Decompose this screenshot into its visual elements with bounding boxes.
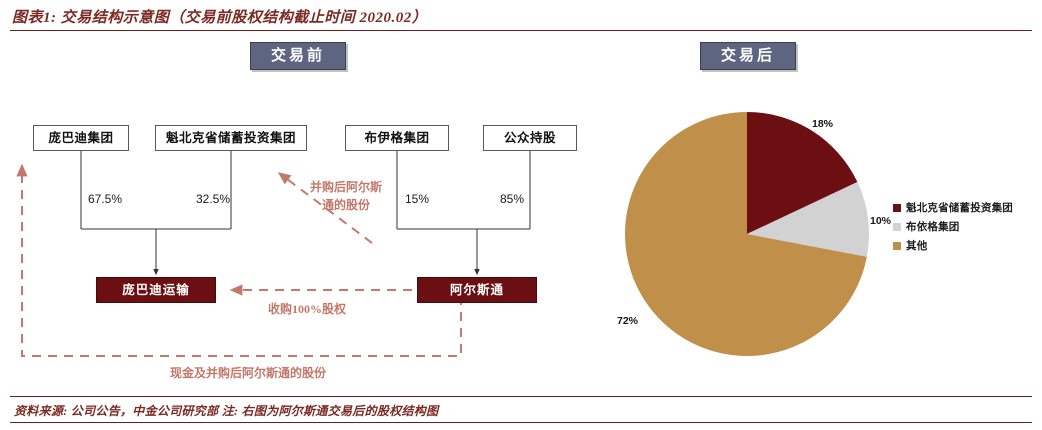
legend-item-quebec: 魁北克省储蓄投资集团: [893, 198, 1013, 217]
footer-divider-top: [10, 396, 1032, 397]
stake-label-bombardier-group: 67.5%: [88, 192, 122, 206]
legend-label-quebec: 魁北克省储蓄投资集团: [906, 200, 1013, 215]
legend-swatch-quebec: [893, 204, 901, 212]
entity-box-quebec-group: 魁北克省储蓄投资集团: [155, 125, 307, 151]
pie-chart-legend: 魁北克省储蓄投资集团 布依格集团 其他: [893, 198, 1013, 255]
annotation-merger-shares-line1: 并购后阿尔斯: [310, 178, 382, 195]
legend-label-others: 其他: [906, 238, 927, 253]
entity-box-alstom: 阿尔斯通: [417, 277, 537, 303]
connector-bombardier-left: [81, 151, 231, 272]
stake-label-public-holding: 85%: [500, 192, 524, 206]
figure-root: 图表1: 交易结构示意图（交易前股权结构截止时间 2020.02） 交易前 交易…: [0, 0, 1042, 430]
entity-box-public-holding: 公众持股: [483, 125, 577, 151]
entity-box-bombardier-group: 庞巴迪集团: [33, 125, 129, 151]
stake-label-quebec-group: 32.5%: [196, 192, 230, 206]
annotation-cash-and-shares: 现金及并购后阿尔斯通的股份: [170, 364, 326, 381]
pie-chart-svg: [622, 110, 872, 358]
connector-alstom-right: [397, 151, 530, 272]
annotation-acquire-100-percent: 收购100%股权: [268, 300, 346, 317]
pie-chart: [622, 110, 872, 358]
legend-swatch-bouygues: [893, 223, 901, 231]
legend-item-others: 其他: [893, 236, 1013, 255]
entity-box-bombardier-transport: 庞巴迪运输: [96, 277, 216, 303]
footer-divider-bottom: [10, 422, 1032, 423]
source-note: 资料来源: 公司公告，中金公司研究部 注: 右图为阿尔斯通交易后的股权结构图: [14, 402, 438, 419]
legend-swatch-others: [893, 242, 901, 250]
legend-item-bouygues: 布依格集团: [893, 217, 1013, 236]
legend-label-bouygues: 布依格集团: [906, 219, 960, 234]
pie-label-others: 72%: [617, 315, 638, 327]
stake-label-bouygues-group: 15%: [405, 192, 429, 206]
pie-label-quebec: 18%: [812, 118, 833, 130]
annotation-merger-shares-line2: 通的股份: [322, 196, 370, 213]
badge-after-transaction: 交易后: [700, 42, 796, 70]
pie-label-bouygues: 10%: [870, 215, 891, 227]
entity-box-bouygues-group: 布伊格集团: [345, 125, 449, 151]
